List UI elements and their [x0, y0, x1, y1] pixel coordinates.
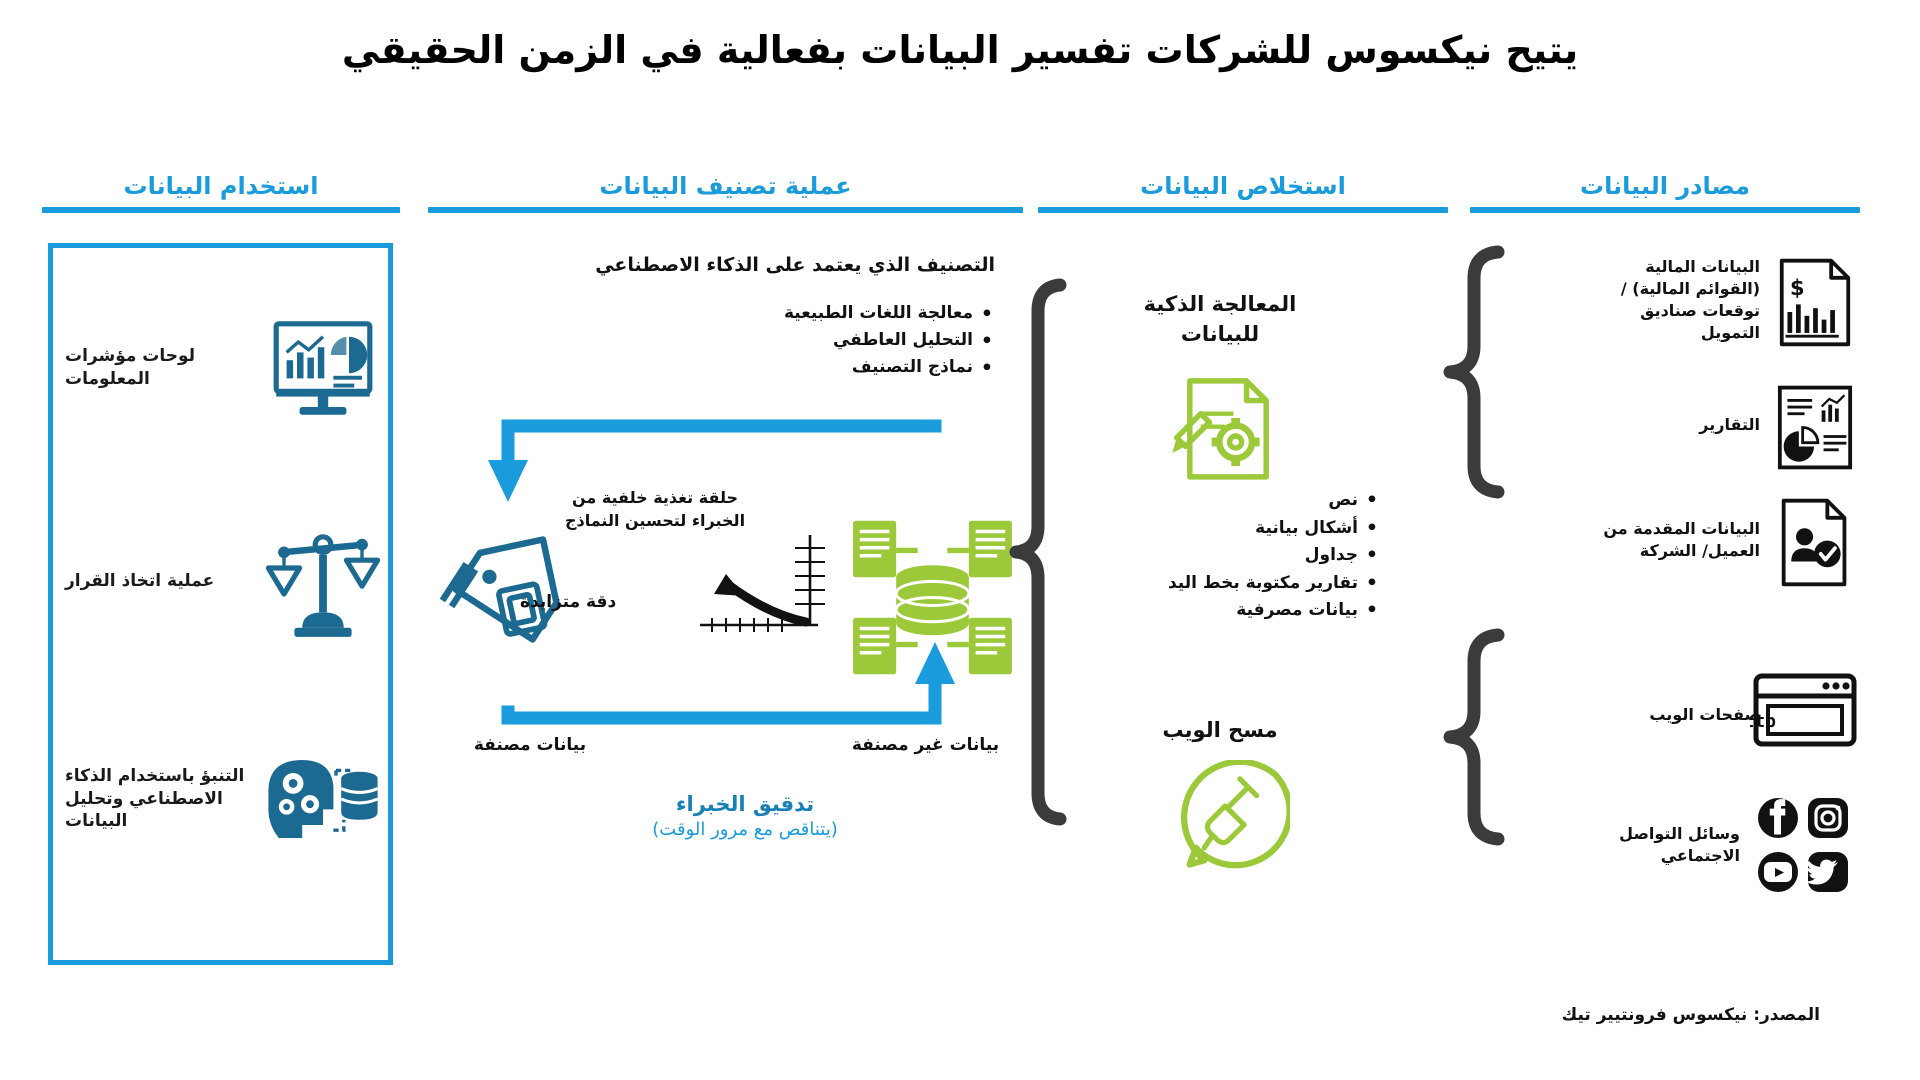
source-item-label: صفحات الويب — [1580, 704, 1770, 726]
balance-scale-icon — [258, 516, 388, 646]
web-scraping-icon — [1175, 760, 1290, 879]
smart-processing-title: المعالجة الذكية للبيانات — [1105, 290, 1335, 350]
header-rule — [42, 207, 400, 213]
list-item: جداول — [1080, 542, 1380, 570]
usage-item-label: لوحات مؤشرات المعلومات — [53, 345, 258, 391]
source-item-reports: التقارير — [1520, 380, 1860, 470]
infographic-root: يتيح نيكسوس للشركات تفسير البيانات بفعال… — [0, 0, 1920, 1080]
source-item-client: البيانات المقدمة من العميل/ الشركة — [1520, 495, 1860, 585]
web-scraping-title: مسح الويب — [1105, 718, 1335, 742]
list-item: بيانات مصرفية — [1080, 597, 1380, 625]
social-media-icons — [1750, 790, 1860, 900]
source-item-financial: $ البيانات المالية (القوائم المالية) / ت… — [1520, 255, 1860, 345]
list-item: نص — [1080, 487, 1380, 515]
report-chart-document-icon — [1770, 380, 1860, 470]
usage-item-decision: عملية اتخاذ القرار — [53, 516, 388, 646]
usage-panel: لوحات مؤشرات المعلومات عملية اتخاذ القرا… — [48, 243, 393, 965]
label-classified-data: بيانات مصنفة — [420, 735, 640, 755]
column-header-extraction-label: استخلاص البيانات — [1038, 172, 1448, 200]
source-item-webpages: http:// صفحات الويب — [1520, 670, 1860, 760]
column-header-sources: مصادر البيانات — [1470, 172, 1860, 213]
expert-audit-title: تدقيق الخبراء — [615, 790, 875, 818]
header-rule — [1038, 207, 1448, 213]
browser-http-icon: http:// — [1770, 670, 1860, 760]
page-title: يتيح نيكسوس للشركات تفسير البيانات بفعال… — [0, 26, 1920, 75]
expert-audit-subtitle: (يتناقص مع مرور الوقت) — [615, 818, 875, 842]
extraction-bullets: نص أشكال بيانية جداول تقارير مكتوبة بخط … — [1080, 487, 1380, 625]
column-header-usage-label: استخدام البيانات — [42, 172, 400, 200]
client-verified-document-icon — [1770, 495, 1860, 585]
column-header-extraction: استخلاص البيانات — [1038, 172, 1448, 213]
source-credit: المصدر: نيكسوس فرونتيير تيك — [1562, 1005, 1820, 1025]
list-item: التحليل العاطفي — [495, 327, 995, 354]
list-item: معالجة اللغات الطبيعية — [495, 300, 995, 327]
usage-item-dashboard: لوحات مؤشرات المعلومات — [53, 303, 388, 433]
column-header-classification: عملية تصنيف البيانات — [428, 172, 1023, 213]
column-header-sources-label: مصادر البيانات — [1470, 172, 1860, 200]
database-documents-icon — [845, 510, 1020, 689]
financial-document-icon: $ — [1770, 255, 1860, 345]
classification-ai-title: التصنيف الذي يعتمد على الذكاء الاصطناعي — [495, 252, 995, 279]
ai-brain-database-icon — [258, 734, 388, 864]
list-item: نماذج التصنيف — [495, 354, 995, 381]
source-item-social: وسائل التواصل الاجتماعي — [1520, 790, 1860, 900]
accuracy-note: دقة متزايدة — [520, 592, 685, 612]
label-unclassified-data: بيانات غير مصنفة — [818, 735, 1033, 755]
usage-item-prediction: التنبؤ باستخدام الذكاء الاصطناعي وتحليل … — [53, 734, 388, 864]
column-header-classification-label: عملية تصنيف البيانات — [428, 172, 1023, 200]
source-item-label: التقارير — [1580, 414, 1770, 436]
usage-item-label: التنبؤ باستخدام الذكاء الاصطناعي وتحليل … — [53, 765, 258, 834]
source-item-label: البيانات المقدمة من العميل/ الشركة — [1580, 518, 1770, 562]
svg-text:$: $ — [1790, 276, 1805, 300]
column-header-usage: استخدام البيانات — [42, 172, 400, 213]
document-gear-icon — [1168, 370, 1288, 494]
header-rule — [1470, 207, 1860, 213]
header-rule — [428, 207, 1023, 213]
usage-item-label: عملية اتخاذ القرار — [53, 570, 258, 593]
feedback-loop-note: حلقة تغذية خلفية من الخبراء لتحسين النما… — [560, 487, 750, 532]
source-item-label: البيانات المالية (القوائم المالية) / توق… — [1580, 256, 1770, 344]
list-item: تقارير مكتوبة بخط اليد — [1080, 570, 1380, 598]
source-item-label: وسائل التواصل الاجتماعي — [1560, 823, 1750, 867]
list-item: أشكال بيانية — [1080, 515, 1380, 543]
classification-ai-bullets: معالجة اللغات الطبيعية التحليل العاطفي ن… — [495, 300, 995, 381]
dashboard-monitor-icon — [258, 303, 388, 433]
expert-audit-block: تدقيق الخبراء (يتناقص مع مرور الوقت) — [615, 790, 875, 843]
